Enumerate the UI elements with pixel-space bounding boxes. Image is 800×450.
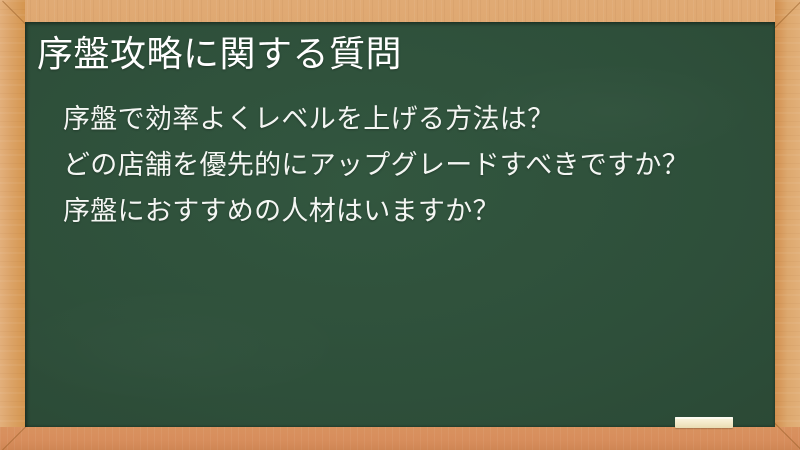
chalk-stick xyxy=(675,417,733,428)
wood-frame-left xyxy=(0,0,25,450)
question-list: 序盤で効率よくレベルを上げる方法は？ どの店舗を優先的にアップグレードすべきです… xyxy=(35,98,757,234)
question-item-1: 序盤で効率よくレベルを上げる方法は？ xyxy=(63,98,735,142)
board-title: 序盤攻略に関する質問 xyxy=(35,32,757,78)
question-item-3: 序盤におすすめの人材はいますか？ xyxy=(63,190,735,234)
board-content: 序盤攻略に関する質問 序盤で効率よくレベルを上げる方法は？ どの店舗を優先的にア… xyxy=(25,22,775,427)
wood-frame-right xyxy=(775,0,800,450)
chalkboard-surface: 序盤攻略に関する質問 序盤で効率よくレベルを上げる方法は？ どの店舗を優先的にア… xyxy=(25,22,775,427)
question-item-2: どの店舗を優先的にアップグレードすべきですか？ xyxy=(63,144,735,188)
wood-frame-tray xyxy=(0,427,800,450)
chalkboard-slide: 序盤攻略に関する質問 序盤で効率よくレベルを上げる方法は？ どの店舗を優先的にア… xyxy=(0,0,800,450)
